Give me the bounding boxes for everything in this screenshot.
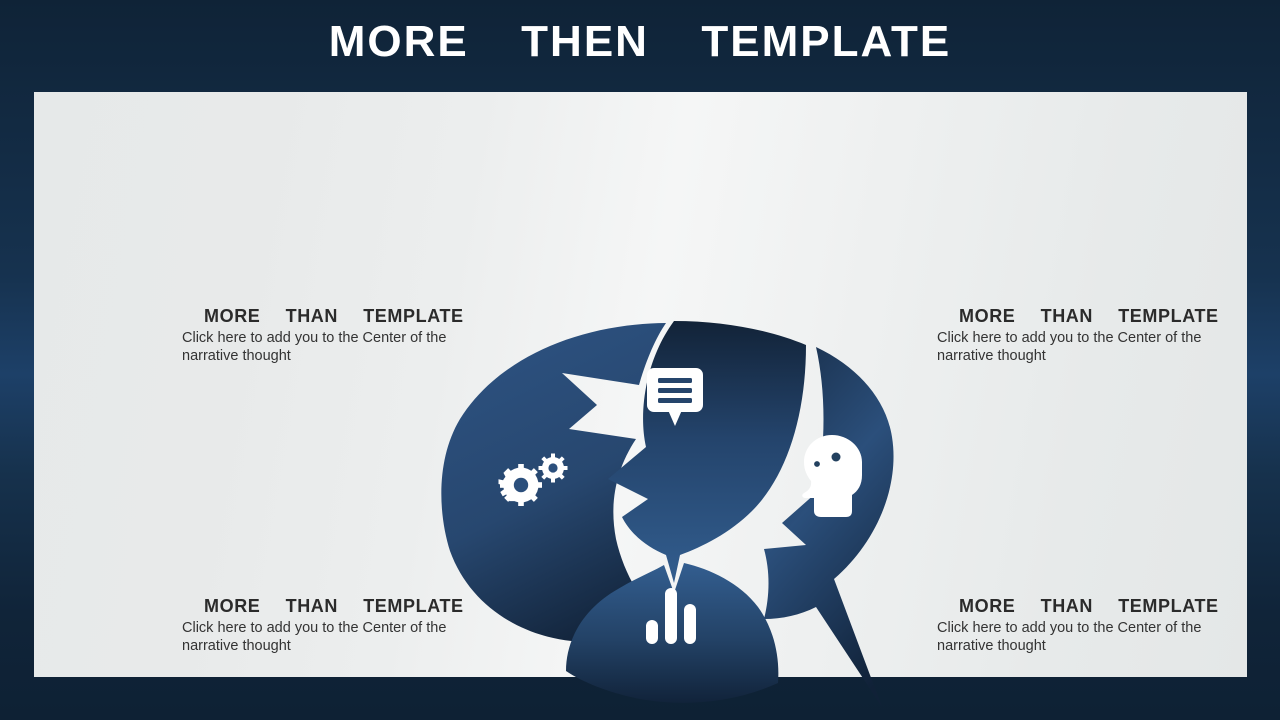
text-block-heading: MORE THAN TEMPLATE bbox=[937, 595, 1257, 617]
text-block-bottom-left[interactable]: MORE THAN TEMPLATE Click here to add you… bbox=[182, 595, 502, 655]
text-block-top-right[interactable]: MORE THAN TEMPLATE Click here to add you… bbox=[937, 305, 1257, 365]
text-block-body: Click here to add you to the Center of t… bbox=[937, 330, 1257, 365]
text-block-body: Click here to add you to the Center of t… bbox=[182, 620, 502, 655]
text-block-top-left[interactable]: MORE THAN TEMPLATE Click here to add you… bbox=[182, 305, 502, 365]
page-title: MORE THEN TEMPLATE bbox=[0, 14, 1280, 70]
text-block-bottom-right[interactable]: MORE THAN TEMPLATE Click here to add you… bbox=[937, 595, 1257, 655]
central-diagram bbox=[434, 307, 914, 720]
text-block-body: Click here to add you to the Center of t… bbox=[182, 330, 502, 365]
text-block-body: Click here to add you to the Center of t… bbox=[937, 620, 1257, 655]
text-block-heading: MORE THAN TEMPLATE bbox=[182, 595, 502, 617]
text-block-heading: MORE THAN TEMPLATE bbox=[937, 305, 1257, 327]
content-panel: MORE THAN TEMPLATE Click here to add you… bbox=[34, 92, 1247, 677]
text-block-heading: MORE THAN TEMPLATE bbox=[182, 305, 502, 327]
